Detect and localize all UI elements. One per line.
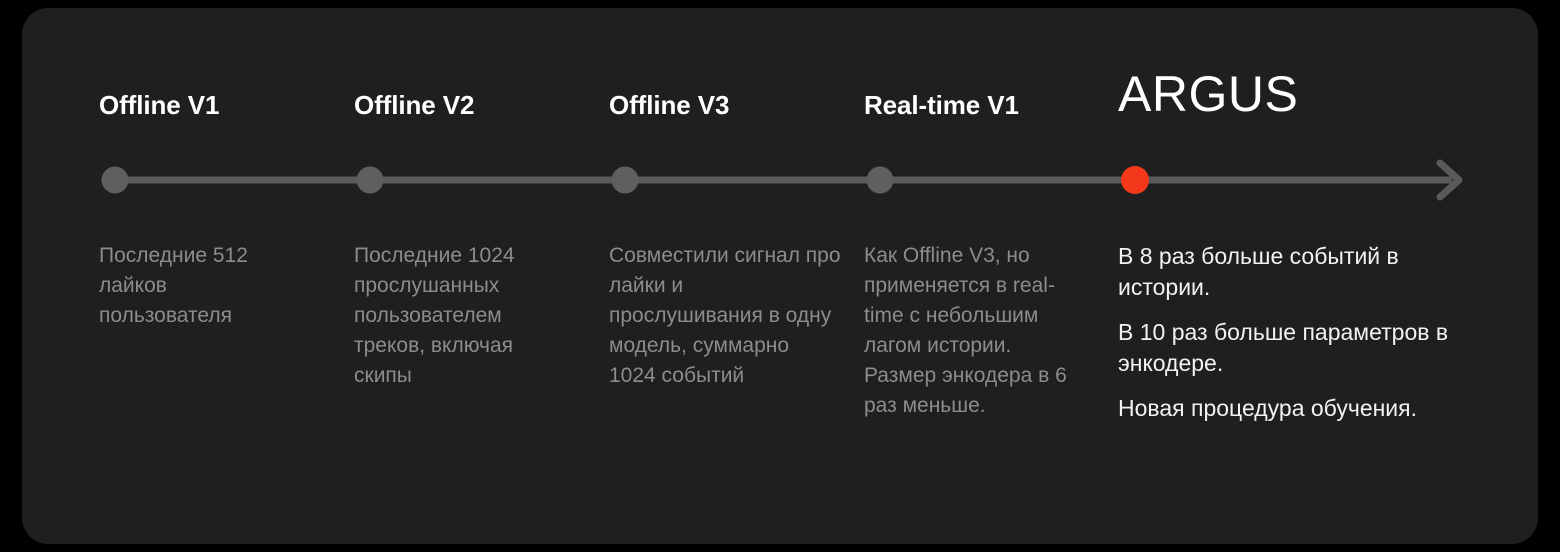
timeline-stage-offline-v3[interactable]: Offline V3 Совместили сигнал про лайки и… [609,90,849,120]
stage-description: Последние 1024 прослушанных пользователе… [354,241,554,391]
timeline-slide: Offline V1 Последние 512 лайков пользова… [22,8,1538,544]
stage-heading: Offline V2 [354,90,589,120]
argus-highlight-item: Новая процедура обучения. [1118,393,1478,424]
stage-description: Как Offline V3, но применяется в real-ti… [864,241,1086,421]
stage-heading: Offline V3 [609,90,849,120]
stage-description: Совместили сигнал про лайки и прослушива… [609,241,841,391]
argus-highlight-item: В 8 раз больше событий в истории. [1118,241,1478,303]
timeline-columns: Offline V1 Последние 512 лайков пользова… [22,8,1538,544]
stage-description: Последние 512 лайков пользователя [99,241,299,331]
stage-heading: Real-time V1 [864,90,1104,120]
timeline-stage-argus[interactable]: ARGUS В 8 раз больше событий в истории. … [1118,90,1518,122]
argus-highlight-item: В 10 раз больше параметров в энкодере. [1118,317,1478,379]
argus-highlights: В 8 раз больше событий в истории. В 10 р… [1118,241,1478,424]
timeline-stage-offline-v2[interactable]: Offline V2 Последние 1024 прослушанных п… [354,90,589,120]
timeline-stage-real-time-v1[interactable]: Real-time V1 Как Offline V3, но применяе… [864,90,1104,120]
timeline-stage-offline-v1[interactable]: Offline V1 Последние 512 лайков пользова… [99,90,329,120]
stage-heading-argus: ARGUS [1118,66,1518,122]
stage-heading: Offline V1 [99,90,329,120]
